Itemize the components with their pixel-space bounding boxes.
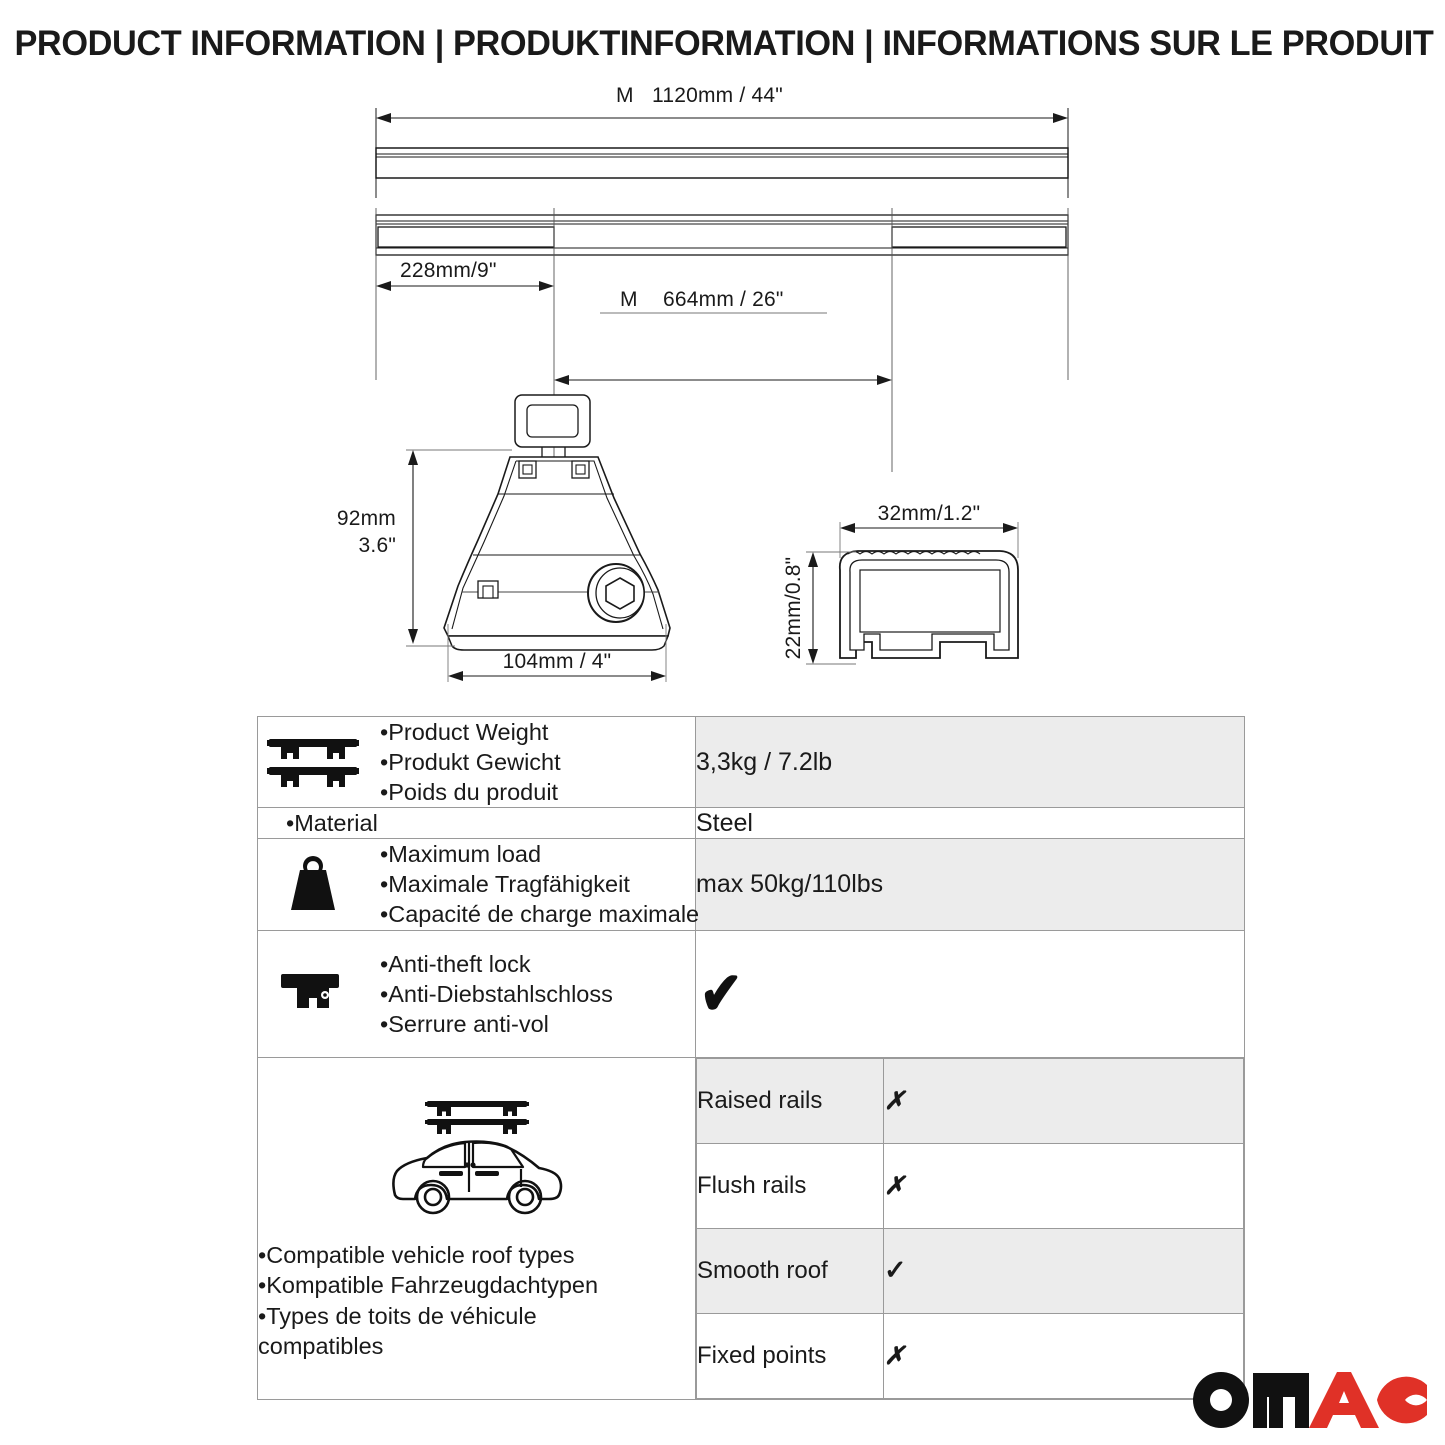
dim-bar-spread-value: 664mm / 26" (663, 288, 784, 311)
roof-type-row: Smooth roof ✓ (697, 1228, 1244, 1313)
dim-bar-length-value: 1120mm / 44" (652, 84, 783, 107)
checkmark-icon: ✔ (700, 964, 743, 1024)
spec-label-line: •Material (286, 808, 378, 838)
spec-value-anti-theft: ✔ (696, 930, 1245, 1057)
spec-label-text: •Product Weight •Produkt Gewicht •Poids … (380, 717, 561, 807)
cross-icon: ✗ (884, 1342, 905, 1370)
spec-value-max-load: max 50kg/110lbs (696, 839, 1245, 930)
spec-label-cell: •Anti-theft lock •Anti-Diebstahlschloss … (258, 930, 696, 1057)
dim-bar-length-prefix: M (616, 84, 634, 107)
table-row: •Maximum load •Maximale Tragfähigkeit •C… (258, 839, 1245, 930)
dim-bar-spread-prefix: M (620, 288, 638, 311)
roof-types-label-line: •Compatible vehicle roof types (258, 1240, 628, 1271)
page-title: PRODUCT INFORMATION | PRODUKTINFORMATION… (14, 24, 1430, 64)
omac-logo-svg (1191, 1369, 1427, 1431)
spec-label-line: •Product Weight (380, 717, 561, 747)
spec-label-text: •Material (258, 808, 378, 838)
weight-icon-svg (282, 852, 344, 916)
spec-label-line: •Maximale Tragfähigkeit (380, 869, 699, 899)
roof-types-label-text: •Compatible vehicle roof types •Kompatib… (258, 1240, 628, 1362)
spec-label-line: •Poids du produit (380, 777, 561, 807)
technical-drawings: M 1120mm / 44" 228mm/9" M 664mm / 26" 92… (0, 80, 1445, 710)
product-spec-table: •Product Weight •Produkt Gewicht •Poids … (257, 716, 1245, 1400)
table-row-roof-types: •Compatible vehicle roof types •Kompatib… (258, 1057, 1245, 1399)
roof-type-mark: ✗ (884, 1313, 1244, 1398)
roof-bars-icon (258, 733, 368, 791)
spec-label-cell: •Material (258, 808, 696, 839)
roof-type-mark: ✗ (884, 1143, 1244, 1228)
check-icon: ✓ (884, 1255, 907, 1285)
weight-icon (258, 852, 368, 916)
drawings-svg: M 1120mm / 44" 228mm/9" M 664mm / 26" 92… (0, 80, 1445, 710)
lock-foot-icon (258, 970, 368, 1018)
roof-types-label-line: •Types de toits de véhicule compatibles (258, 1301, 628, 1362)
spec-label-cell: •Maximum load •Maximale Tragfähigkeit •C… (258, 839, 696, 930)
header: PRODUCT INFORMATION | PRODUKTINFORMATION… (0, 24, 1445, 64)
spec-label-line: •Maximum load (380, 839, 699, 869)
roof-types-table: Raised rails ✗ Flush rails ✗ (696, 1058, 1244, 1399)
spec-label-line: •Anti-Diebstahlschloss (380, 979, 613, 1009)
dim-profile-height: 22mm/0.8" (782, 557, 805, 660)
roof-type-name: Fixed points (697, 1313, 884, 1398)
spec-label-line: •Anti-theft lock (380, 949, 613, 979)
dim-foot-height-in: 3.6" (359, 534, 396, 557)
spec-label-line: •Capacité de charge maximale (380, 899, 699, 929)
car-with-rack-icon (379, 1095, 575, 1230)
omac-logo (1191, 1369, 1427, 1431)
lock-foot-icon-svg (277, 970, 349, 1018)
roof-type-row: Raised rails ✗ (697, 1058, 1244, 1143)
spec-label-cell: •Product Weight •Produkt Gewicht •Poids … (258, 717, 696, 808)
roof-bars-icon-svg (265, 733, 361, 791)
roof-type-row: Fixed points ✗ (697, 1313, 1244, 1398)
table-row: •Material Steel (258, 808, 1245, 839)
dim-foot-offset: 228mm/9" (400, 259, 497, 282)
dim-profile-width: 32mm/1.2" (878, 502, 981, 525)
dim-foot-width: 104mm / 4" (503, 650, 612, 673)
roof-type-name: Flush rails (697, 1143, 884, 1228)
table-row: •Anti-theft lock •Anti-Diebstahlschloss … (258, 930, 1245, 1057)
roof-type-row: Flush rails ✗ (697, 1143, 1244, 1228)
spec-label-text: •Anti-theft lock •Anti-Diebstahlschloss … (380, 949, 613, 1039)
roof-type-mark: ✓ (884, 1228, 1244, 1313)
spec-label-text: •Maximum load •Maximale Tragfähigkeit •C… (380, 839, 699, 929)
spec-label-line: •Produkt Gewicht (380, 747, 561, 777)
cross-icon: ✗ (884, 1172, 905, 1200)
car-with-rack-icon-svg (379, 1095, 575, 1225)
roof-type-name: Smooth roof (697, 1228, 884, 1313)
spec-label-line: •Serrure anti-vol (380, 1009, 613, 1039)
table-row: •Product Weight •Produkt Gewicht •Poids … (258, 717, 1245, 808)
roof-types-options-cell: Raised rails ✗ Flush rails ✗ (696, 1057, 1245, 1399)
roof-type-name: Raised rails (697, 1058, 884, 1143)
roof-type-mark: ✗ (884, 1058, 1244, 1143)
roof-types-label-line: •Kompatible Fahrzeugdachtypen (258, 1270, 628, 1301)
dim-foot-height-mm: 92mm (337, 507, 396, 530)
spec-value-weight: 3,3kg / 7.2lb (696, 717, 1245, 808)
cross-icon: ✗ (884, 1087, 905, 1115)
spec-value-material: Steel (696, 808, 1245, 839)
roof-types-label-cell: •Compatible vehicle roof types •Kompatib… (258, 1057, 696, 1399)
